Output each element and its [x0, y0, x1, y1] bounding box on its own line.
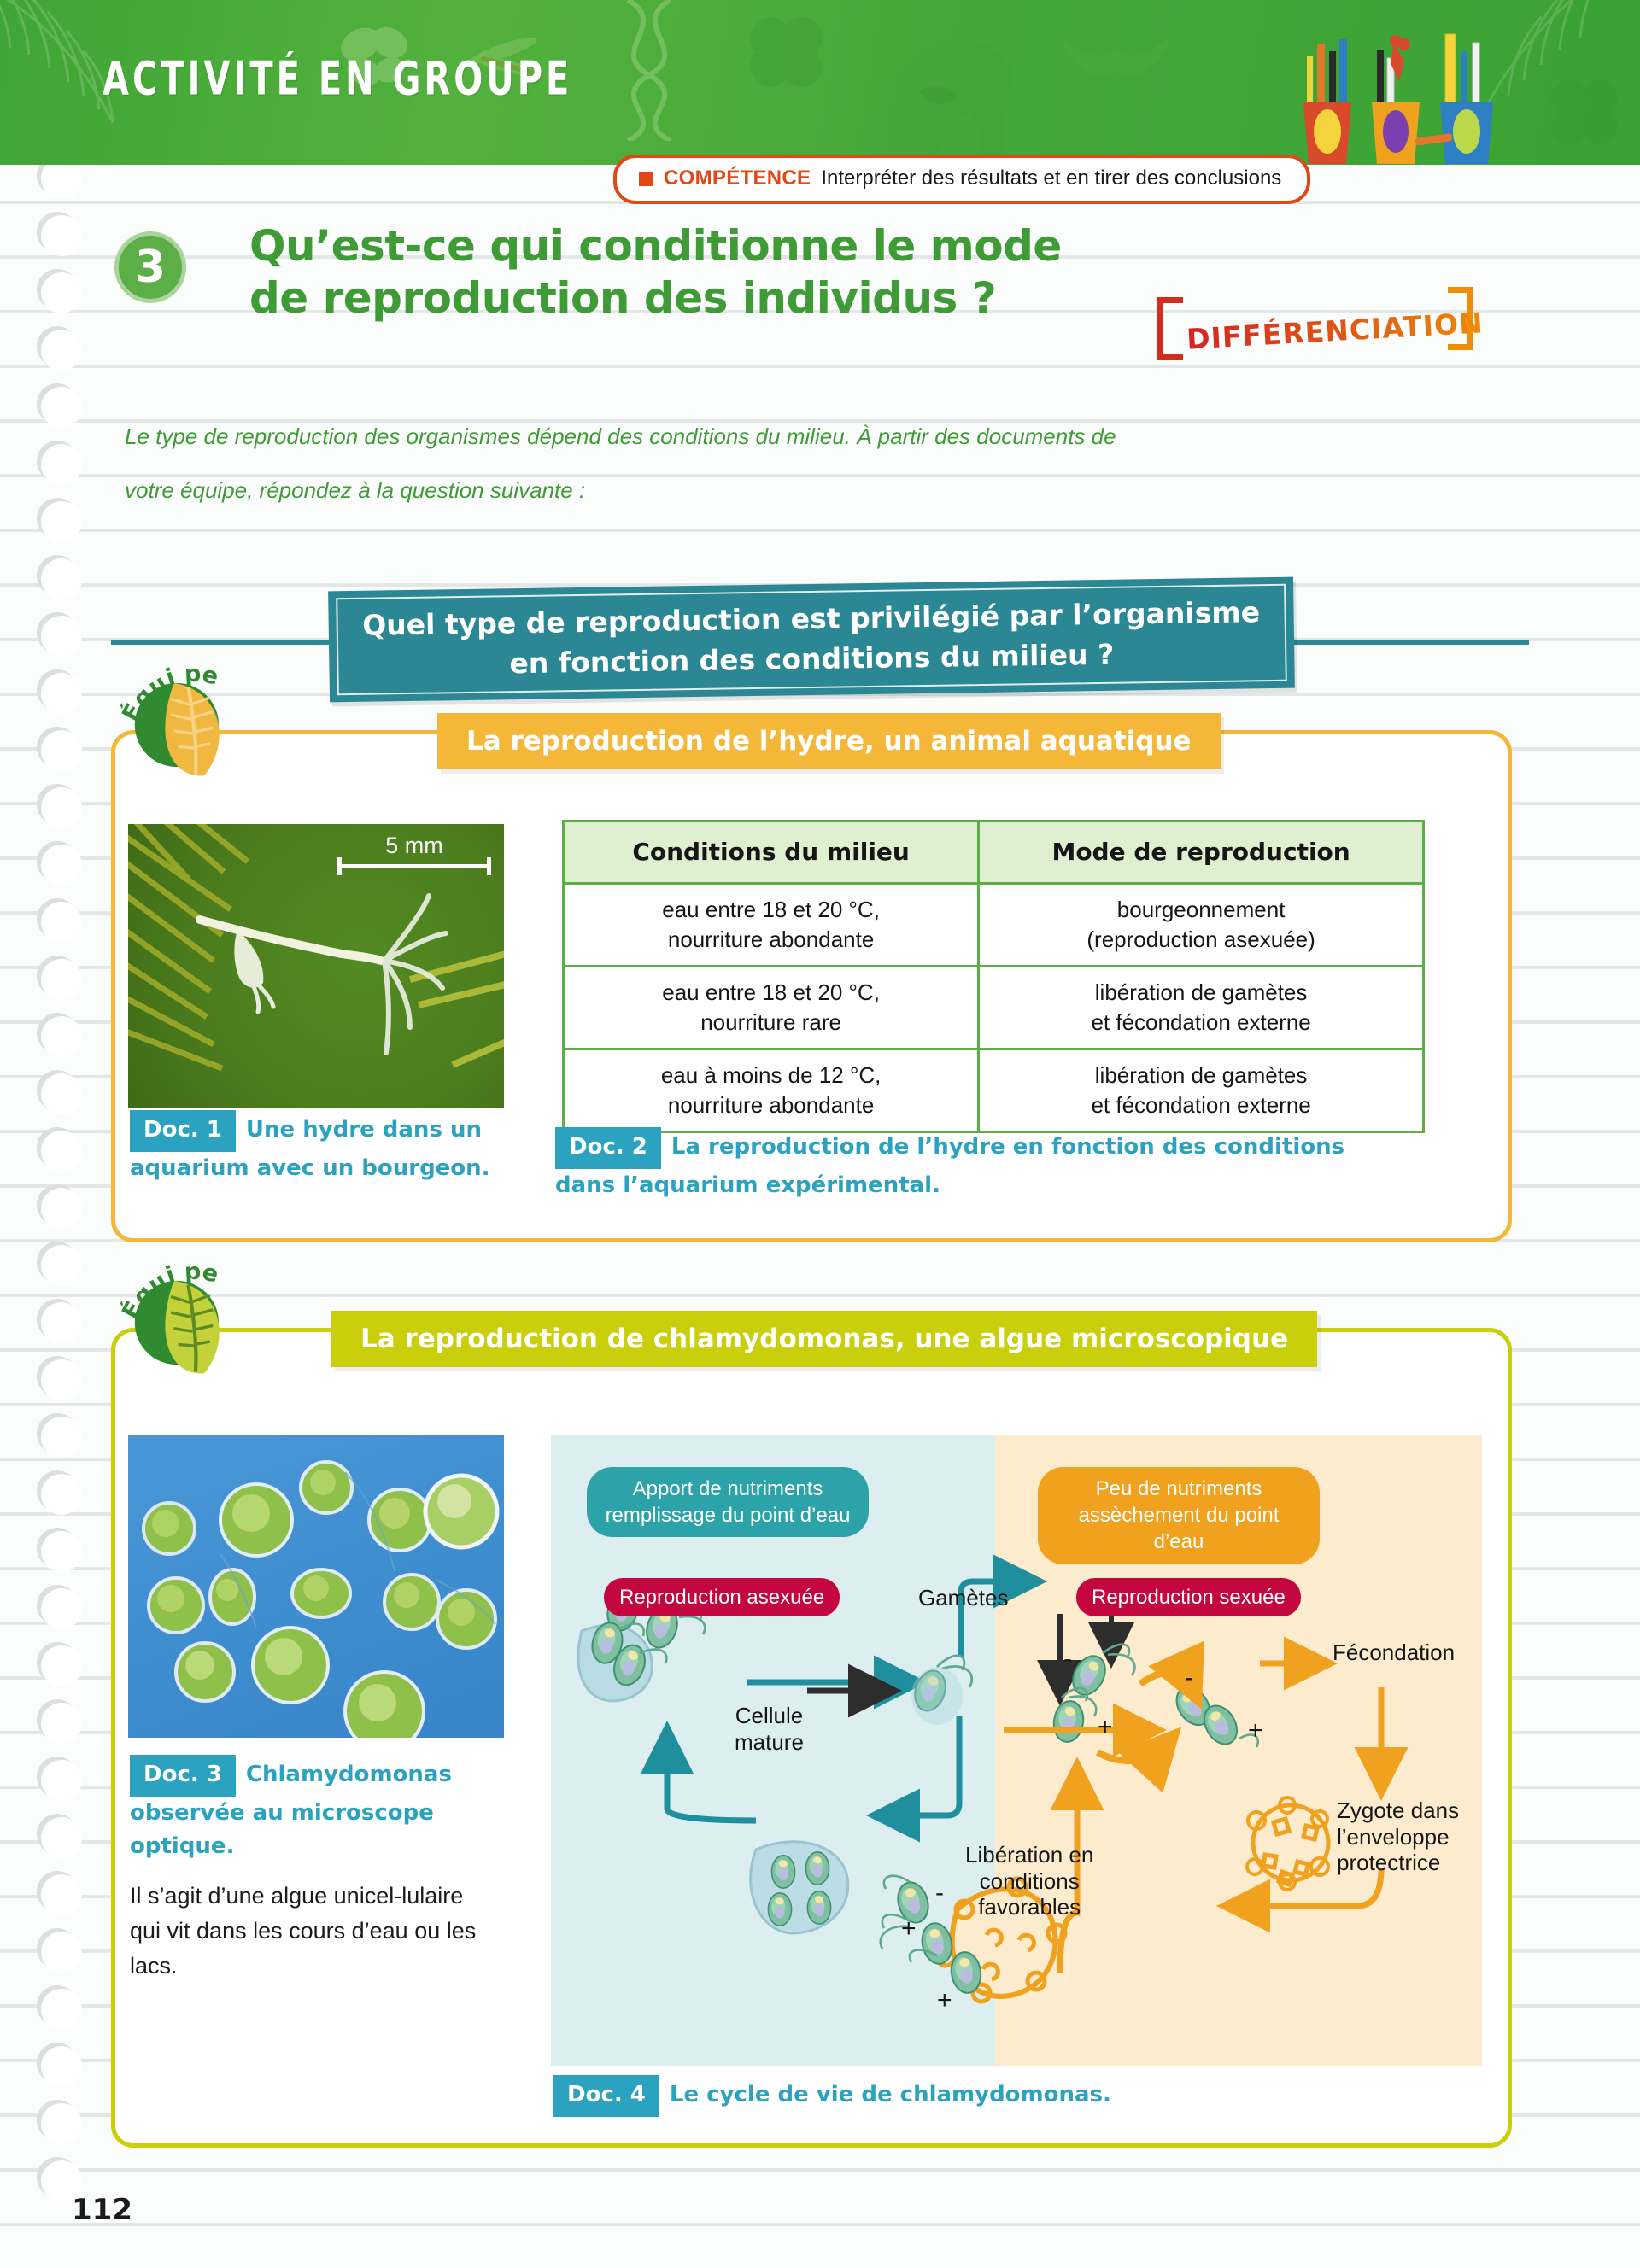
clover-leaf-icon [735, 7, 837, 101]
doc2-caption: Doc. 2La reproduction de l’hydre en fonc… [555, 1127, 1409, 1202]
punch-hole [41, 673, 82, 714]
sign-minus-2: - [1185, 1663, 1193, 1692]
doc4-tag: Doc. 4 [553, 2075, 659, 2117]
sign-plus-4: + [937, 1986, 952, 2015]
team2-badge: Équipe [126, 1248, 272, 1394]
competence-text: Interpréter des résultats et en tirer de… [821, 167, 1281, 190]
punch-hole [41, 902, 82, 943]
binder-punch-holes [0, 158, 102, 2224]
punch-hole [41, 1588, 82, 1629]
activity-number-badge: 3 [114, 231, 186, 303]
doc2-text: La reproduction de l’hydre en fonction d… [555, 1134, 1344, 1198]
question-banner: Quel type de reproduction est privilégié… [111, 587, 1529, 699]
intro-line-2: votre équipe, répondez à la question sui… [125, 464, 1474, 517]
question-text: Quel type de reproduction est privilégié… [362, 593, 1261, 686]
punch-hole [41, 730, 82, 771]
rule-right [1290, 640, 1529, 645]
differentiation-label: DIFFÉRENCIATION [1186, 306, 1484, 355]
doc4-text: Le cycle de vie de chlamydomonas. [670, 2082, 1111, 2107]
table-row: eau entre 18 et 20 °C,nourriture rarelib… [564, 966, 1424, 1049]
fecondation-label: Fécondation [1332, 1640, 1455, 1666]
chlamydomonas-photo [128, 1435, 504, 1738]
punch-hole [41, 1245, 82, 1286]
punch-hole [41, 1932, 82, 1973]
punch-hole [41, 1131, 82, 1172]
doc1-caption: Doc. 1Une hydre dans un aquarium avec un… [130, 1110, 497, 1185]
table-cell: eau entre 18 et 20 °C,nourriture rare [564, 966, 979, 1049]
punch-hole [41, 1016, 82, 1057]
punch-hole [41, 215, 82, 256]
table-header-cell: Conditions du milieu [564, 821, 979, 884]
page-title: Qu’est-ce qui conditionne le mode de rep… [249, 220, 1206, 324]
hydra-scale-bar: 5 mm [337, 833, 491, 868]
team1-badge: Équipe [126, 651, 272, 796]
team1-header-banner: La reproduction de l’hydre, un animal aq… [437, 713, 1221, 769]
punch-hole [41, 387, 82, 428]
conditions-table: Conditions du milieuMode de reproduction… [562, 820, 1425, 1133]
asexual-mode-pill: Reproduction asexuée [604, 1578, 840, 1616]
page-header-banner: ACTIVITÉ EN GROUPE [0, 0, 1640, 165]
punch-hole [41, 845, 82, 886]
scale-label: 5 mm [337, 833, 491, 859]
banner-title: ACTIVITÉ EN GROUPE [102, 53, 572, 106]
title-line-1: Qu’est-ce qui conditionne le mode [249, 220, 1206, 272]
sign-plus-2: + [1248, 1716, 1263, 1745]
intro-line-1: Le type de reproduction des organismes d… [125, 410, 1474, 464]
punch-hole [41, 501, 82, 542]
table-cell: eau entre 18 et 20 °C,nourriture abondan… [564, 883, 979, 966]
punch-hole [41, 1817, 82, 1858]
punch-hole [41, 444, 82, 485]
punch-hole [41, 1474, 82, 1515]
table-cell: eau à moins de 12 °C,nourriture abondant… [564, 1049, 979, 1132]
punch-hole [41, 1359, 82, 1400]
punch-hole [41, 1417, 82, 1458]
punch-hole [41, 1188, 82, 1229]
release-label: Libération enconditionsfavorables [965, 1842, 1093, 1920]
punch-hole [41, 1760, 82, 1801]
punch-hole [41, 1703, 82, 1744]
square-marker-icon [639, 172, 653, 186]
punch-hole [41, 1531, 82, 1572]
punch-hole [41, 1874, 82, 1915]
doc3-tag: Doc. 3 [130, 1755, 236, 1797]
zygote-label: Zygote dansl’enveloppeprotectrice [1337, 1797, 1459, 1876]
table-header-cell: Mode de reproduction [979, 821, 1424, 884]
left-condition-pill: Apport de nutrimentsremplissage du point… [587, 1467, 869, 1537]
doc3-caption: Doc. 3Chlamydomonas observée au microsco… [130, 1755, 471, 1863]
intro-text: Le type de reproduction des organismes d… [125, 410, 1474, 517]
punch-hole [41, 2103, 82, 2144]
mature-cell-label: Cellulemature [735, 1703, 804, 1755]
gametes-label: Gamètes [918, 1585, 1009, 1611]
competence-keyword: COMPÉTENCE [664, 167, 811, 190]
team1-badge-word: Équipe [126, 651, 272, 714]
punch-hole [41, 1645, 82, 1686]
pencil-cups-icon [1298, 20, 1520, 165]
punch-hole [41, 1302, 82, 1343]
question-box: Quel type de reproduction est privilégié… [328, 577, 1295, 703]
scale-line [337, 1872, 478, 1876]
table-cell: libération de gamèteset fécondation exte… [979, 1049, 1424, 1132]
table-cell: bourgeonnement(reproduction asexuée) [979, 883, 1424, 966]
dna-helix-icon [589, 0, 717, 141]
sign-minus-1: - [1063, 1645, 1072, 1674]
dinosaur-icon [837, 9, 1059, 165]
scale-line [337, 864, 491, 868]
doc3-body-text: Il s’agit d’une algue unicel-lulaire qui… [130, 1879, 489, 1984]
team2-badge-word: Équipe [126, 1248, 272, 1312]
sign-minus-3: - [935, 1879, 944, 1908]
punch-hole [41, 1073, 82, 1114]
table-row: eau à moins de 12 °C,nourriture abondant… [564, 1049, 1424, 1132]
clover-leaf-icon [1537, 71, 1631, 156]
punch-hole [41, 330, 82, 371]
sign-plus-3: + [901, 1914, 917, 1944]
lifecycle-diagram: Apport de nutrimentsremplissage du point… [551, 1435, 1482, 2066]
punch-hole [41, 959, 82, 1000]
pterodactyl-icon [1051, 19, 1179, 113]
page-number: 112 [72, 2193, 132, 2227]
right-condition-pill: Peu de nutrimentsassèchement du point d’… [1038, 1467, 1320, 1564]
sexual-mode-pill: Reproduction sexuée [1076, 1578, 1301, 1616]
table-row: eau entre 18 et 20 °C,nourriture abondan… [564, 883, 1424, 966]
punch-hole [41, 558, 82, 599]
algae-cells-illustration [128, 1435, 504, 1738]
bracket-left-icon [1157, 297, 1183, 360]
punch-hole [41, 1989, 82, 2030]
doc4-caption: Doc. 4Le cycle de vie de chlamydomonas. [553, 2075, 1151, 2117]
punch-hole [41, 787, 82, 828]
competence-badge: COMPÉTENCE Interpréter des résultats et … [613, 155, 1310, 204]
doc1-tag: Doc. 1 [130, 1110, 236, 1152]
punch-hole [41, 272, 82, 313]
punch-hole [41, 2046, 82, 2087]
sign-plus-1: + [1098, 1713, 1113, 1742]
differentiation-badge: DIFFÉRENCIATION [1157, 290, 1473, 369]
punch-hole [41, 616, 82, 657]
rule-left [111, 640, 350, 645]
title-line-2: de reproduction des individus ? [249, 272, 1206, 324]
team2-header-banner: La reproduction de chlamydomonas, une al… [331, 1311, 1317, 1367]
doc2-tag: Doc. 2 [555, 1127, 661, 1169]
table-cell: libération de gamèteset fécondation exte… [979, 966, 1424, 1049]
